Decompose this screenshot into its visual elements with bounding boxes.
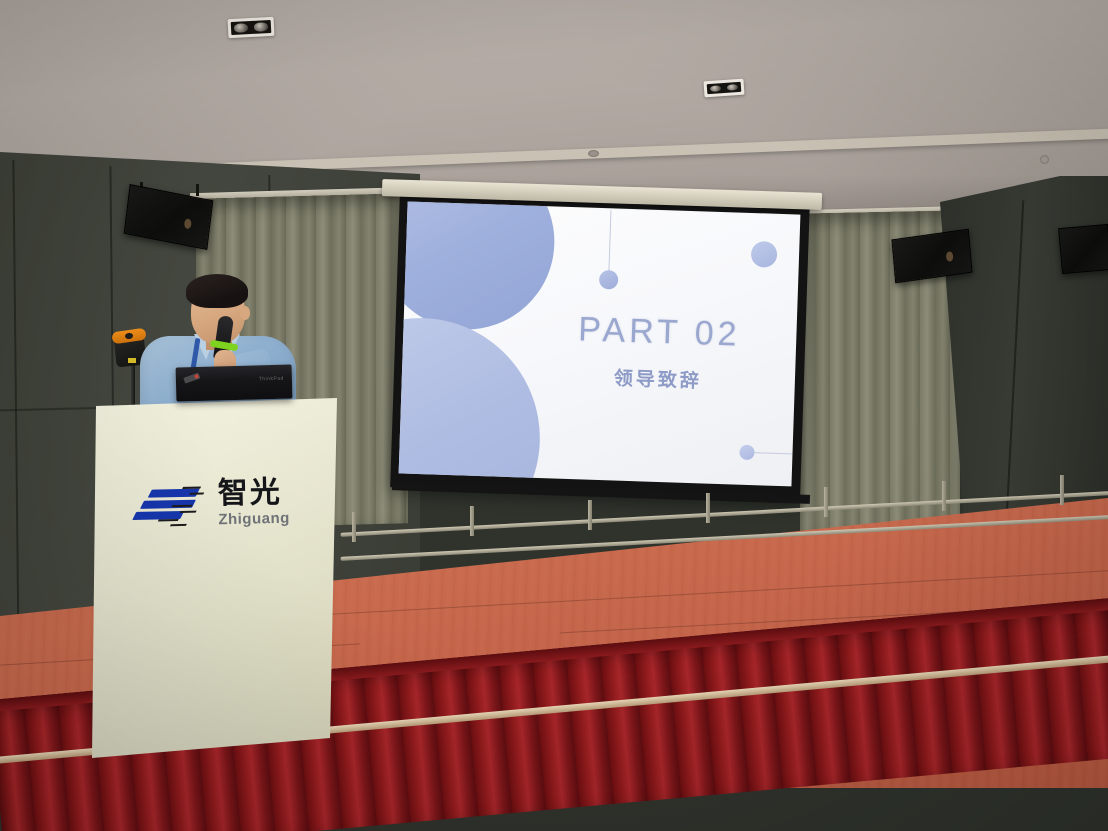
zhiguang-mark-icon — [128, 480, 211, 528]
slide-decor-line — [608, 210, 611, 272]
slide-decor-circle — [399, 202, 558, 333]
podium-logo-english: Zhiguang — [218, 511, 290, 527]
person-hair — [186, 274, 248, 308]
slide-decor-line — [753, 452, 800, 455]
laptop-brand-label: ThinkPad — [259, 376, 284, 383]
slide-surface: PART 02 领导致辞 — [399, 202, 801, 487]
laptop: ThinkPad — [176, 364, 293, 401]
ceiling-fitting — [588, 150, 599, 157]
person-ear — [240, 306, 250, 320]
clamp-knob — [128, 358, 136, 363]
slide-decor-circle — [739, 445, 754, 460]
slide-subtitle: 领导致辞 — [543, 362, 774, 397]
ceiling-spotlight-icon — [228, 17, 275, 38]
conference-room-photo: PART 02 领导致辞 — [0, 0, 1108, 831]
projection-screen: PART 02 领导致辞 — [390, 189, 810, 500]
slide-decor-circle — [599, 270, 619, 290]
thinkpad-logo-icon — [183, 373, 200, 384]
slide-text-block: PART 02 领导致辞 — [543, 310, 775, 396]
podium-logo: 智光 Zhiguang — [127, 468, 328, 538]
slide-decor-circle — [399, 314, 544, 486]
podium: 智光 Zhiguang — [92, 398, 337, 758]
light-stand-pole — [131, 360, 135, 412]
slide-decor-circle — [751, 241, 778, 268]
wall-speaker-icon — [1058, 224, 1108, 274]
smoke-detector-icon — [1040, 155, 1049, 164]
speaker-bracket — [196, 184, 199, 196]
slide-part-label: PART 02 — [544, 310, 775, 355]
ceiling-spotlight-icon — [703, 79, 744, 98]
podium-logo-chinese: 智光 — [217, 478, 289, 509]
